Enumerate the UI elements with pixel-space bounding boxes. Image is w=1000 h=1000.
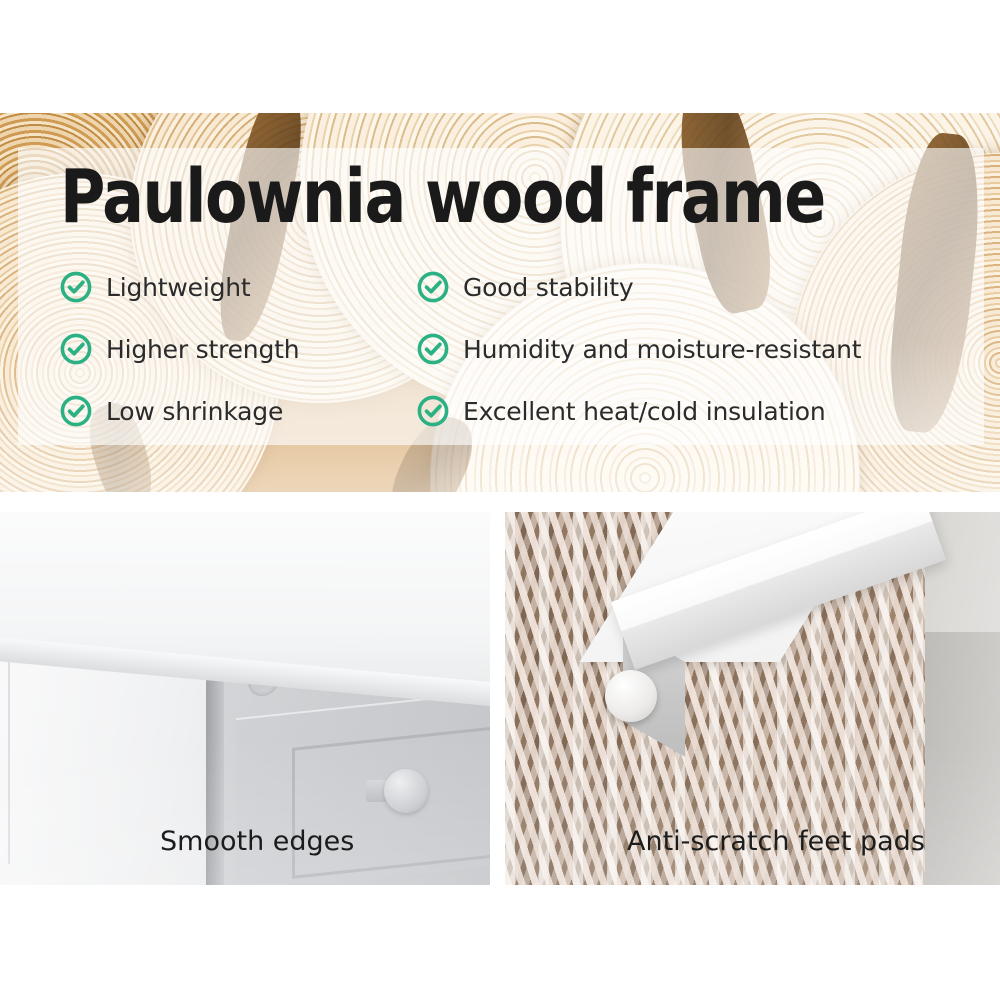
- photo-caption: Smooth edges: [160, 826, 354, 857]
- feature-item: Humidity and moisture-resistant: [417, 318, 957, 380]
- anti-scratch-feet-pads-photo: Anti-scratch feet pads: [505, 512, 1000, 885]
- check-circle-icon: [417, 271, 449, 303]
- check-circle-icon: [60, 395, 92, 427]
- nightstand-knob: [384, 769, 428, 813]
- check-circle-icon: [60, 271, 92, 303]
- feature-item: Higher strength: [60, 318, 410, 380]
- feature-item: Good stability: [417, 256, 957, 318]
- feature-item: Low shrinkage: [60, 380, 410, 442]
- feature-label: Lightweight: [106, 273, 250, 302]
- feature-column-right: Good stability Humidity and moisture-res…: [417, 256, 957, 442]
- check-circle-icon: [417, 333, 449, 365]
- check-circle-icon: [60, 333, 92, 365]
- smooth-edges-photo: Smooth edges: [0, 512, 490, 885]
- feature-item: Lightweight: [60, 256, 410, 318]
- anti-scratch-foot-pad: [605, 670, 657, 722]
- feature-item: Excellent heat/cold insulation: [417, 380, 957, 442]
- feature-label: Low shrinkage: [106, 397, 283, 426]
- feature-label: Excellent heat/cold insulation: [463, 397, 826, 426]
- feature-label: Humidity and moisture-resistant: [463, 335, 861, 364]
- feature-column-left: Lightweight Higher strength Low shrinkag…: [60, 256, 410, 442]
- feature-label: Good stability: [463, 273, 633, 302]
- photo-caption: Anti-scratch feet pads: [627, 826, 925, 857]
- banner-title: Paulownia wood frame: [60, 160, 825, 234]
- check-circle-icon: [417, 395, 449, 427]
- feature-label: Higher strength: [106, 335, 299, 364]
- paulownia-wood-banner: Paulownia wood frame Lightweight Higher …: [0, 113, 1000, 492]
- product-detail-photos: Smooth edges Anti-scratch feet pads: [0, 512, 1000, 885]
